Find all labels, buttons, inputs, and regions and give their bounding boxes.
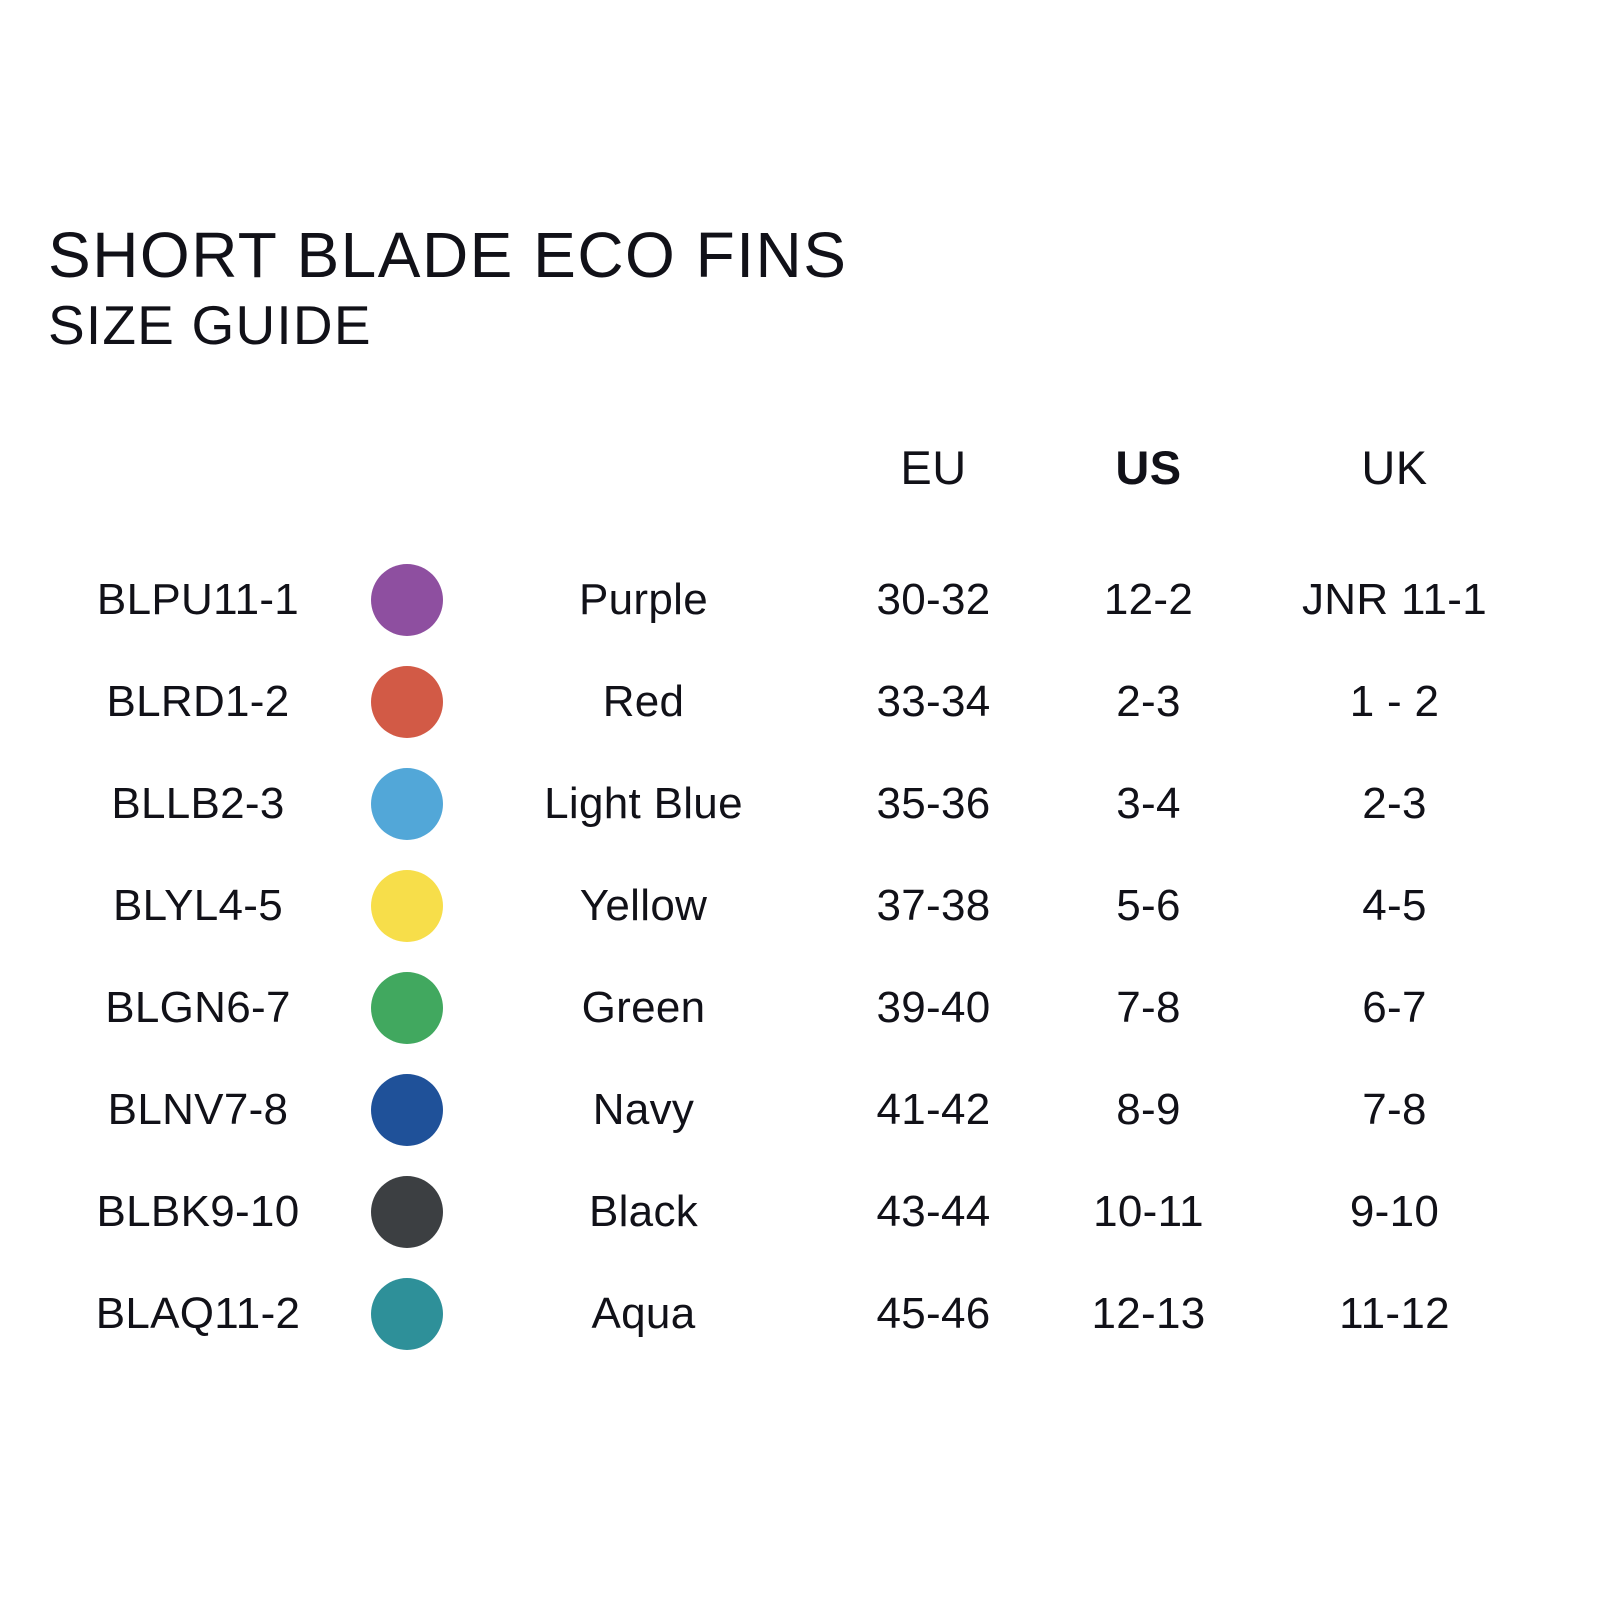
size-us: 7-8 bbox=[1046, 957, 1251, 1059]
color-swatch-cell bbox=[348, 957, 466, 1059]
table-header: EU US UK bbox=[48, 440, 1538, 549]
table-row: BLLB2-3Light Blue35-363-42-3 bbox=[48, 753, 1538, 855]
color-name: Black bbox=[466, 1161, 821, 1263]
size-uk: JNR 11-1 bbox=[1251, 549, 1538, 651]
size-uk: 11-12 bbox=[1251, 1263, 1538, 1365]
color-swatch-icon bbox=[371, 1074, 443, 1146]
product-code: BLGN6-7 bbox=[48, 957, 348, 1059]
color-swatch-cell bbox=[348, 855, 466, 957]
size-uk: 6-7 bbox=[1251, 957, 1538, 1059]
color-swatch-cell bbox=[348, 1059, 466, 1161]
color-swatch-cell bbox=[348, 651, 466, 753]
table-body: BLPU11-1Purple30-3212-2JNR 11-1BLRD1-2Re… bbox=[48, 549, 1538, 1365]
size-us: 5-6 bbox=[1046, 855, 1251, 957]
size-uk: 4-5 bbox=[1251, 855, 1538, 957]
color-swatch-icon bbox=[371, 972, 443, 1044]
size-eu: 45-46 bbox=[821, 1263, 1046, 1365]
table-row: BLAQ11-2Aqua45-4612-1311-12 bbox=[48, 1263, 1538, 1365]
size-uk: 9-10 bbox=[1251, 1161, 1538, 1263]
column-header-swatch bbox=[348, 440, 466, 549]
size-us: 12-13 bbox=[1046, 1263, 1251, 1365]
color-swatch-cell bbox=[348, 1161, 466, 1263]
color-swatch-icon bbox=[371, 1176, 443, 1248]
color-name: Aqua bbox=[466, 1263, 821, 1365]
color-name: Navy bbox=[466, 1059, 821, 1161]
size-eu: 35-36 bbox=[821, 753, 1046, 855]
color-name: Light Blue bbox=[466, 753, 821, 855]
size-us: 12-2 bbox=[1046, 549, 1251, 651]
product-code: BLPU11-1 bbox=[48, 549, 348, 651]
column-header-uk: UK bbox=[1251, 440, 1538, 549]
color-swatch-cell bbox=[348, 1263, 466, 1365]
color-swatch-icon bbox=[371, 1278, 443, 1350]
size-uk: 1 - 2 bbox=[1251, 651, 1538, 753]
product-code: BLYL4-5 bbox=[48, 855, 348, 957]
color-name: Green bbox=[466, 957, 821, 1059]
column-header-color bbox=[466, 440, 821, 549]
size-uk: 2-3 bbox=[1251, 753, 1538, 855]
color-swatch-icon bbox=[371, 768, 443, 840]
color-swatch-cell bbox=[348, 753, 466, 855]
table-row: BLGN6-7Green39-407-86-7 bbox=[48, 957, 1538, 1059]
product-code: BLAQ11-2 bbox=[48, 1263, 348, 1365]
size-eu: 41-42 bbox=[821, 1059, 1046, 1161]
size-us: 2-3 bbox=[1046, 651, 1251, 753]
table-row: BLPU11-1Purple30-3212-2JNR 11-1 bbox=[48, 549, 1538, 651]
table-row: BLRD1-2Red33-342-31 - 2 bbox=[48, 651, 1538, 753]
page-title-secondary: SIZE GUIDE bbox=[48, 294, 847, 356]
product-code: BLNV7-8 bbox=[48, 1059, 348, 1161]
size-us: 3-4 bbox=[1046, 753, 1251, 855]
table-row: BLNV7-8Navy41-428-97-8 bbox=[48, 1059, 1538, 1161]
size-guide-table: EU US UK BLPU11-1Purple30-3212-2JNR 11-1… bbox=[48, 440, 1538, 1365]
color-swatch-icon bbox=[371, 564, 443, 636]
size-uk: 7-8 bbox=[1251, 1059, 1538, 1161]
size-eu: 30-32 bbox=[821, 549, 1046, 651]
size-guide-page: SHORT BLADE ECO FINS SIZE GUIDE EU US UK… bbox=[0, 0, 1600, 1600]
product-code: BLRD1-2 bbox=[48, 651, 348, 753]
table-row: BLBK9-10Black43-4410-119-10 bbox=[48, 1161, 1538, 1263]
page-title: SHORT BLADE ECO FINS SIZE GUIDE bbox=[48, 218, 847, 356]
size-us: 8-9 bbox=[1046, 1059, 1251, 1161]
column-header-eu: EU bbox=[821, 440, 1046, 549]
size-eu: 33-34 bbox=[821, 651, 1046, 753]
column-header-code bbox=[48, 440, 348, 549]
color-swatch-cell bbox=[348, 549, 466, 651]
product-code: BLBK9-10 bbox=[48, 1161, 348, 1263]
page-title-primary: SHORT BLADE ECO FINS bbox=[48, 218, 847, 292]
color-name: Purple bbox=[466, 549, 821, 651]
color-swatch-icon bbox=[371, 666, 443, 738]
color-name: Yellow bbox=[466, 855, 821, 957]
size-eu: 43-44 bbox=[821, 1161, 1046, 1263]
color-name: Red bbox=[466, 651, 821, 753]
table-row: BLYL4-5Yellow37-385-64-5 bbox=[48, 855, 1538, 957]
size-us: 10-11 bbox=[1046, 1161, 1251, 1263]
color-swatch-icon bbox=[371, 870, 443, 942]
column-header-us: US bbox=[1046, 440, 1251, 549]
table-header-row: EU US UK bbox=[48, 440, 1538, 549]
size-eu: 39-40 bbox=[821, 957, 1046, 1059]
size-eu: 37-38 bbox=[821, 855, 1046, 957]
product-code: BLLB2-3 bbox=[48, 753, 348, 855]
